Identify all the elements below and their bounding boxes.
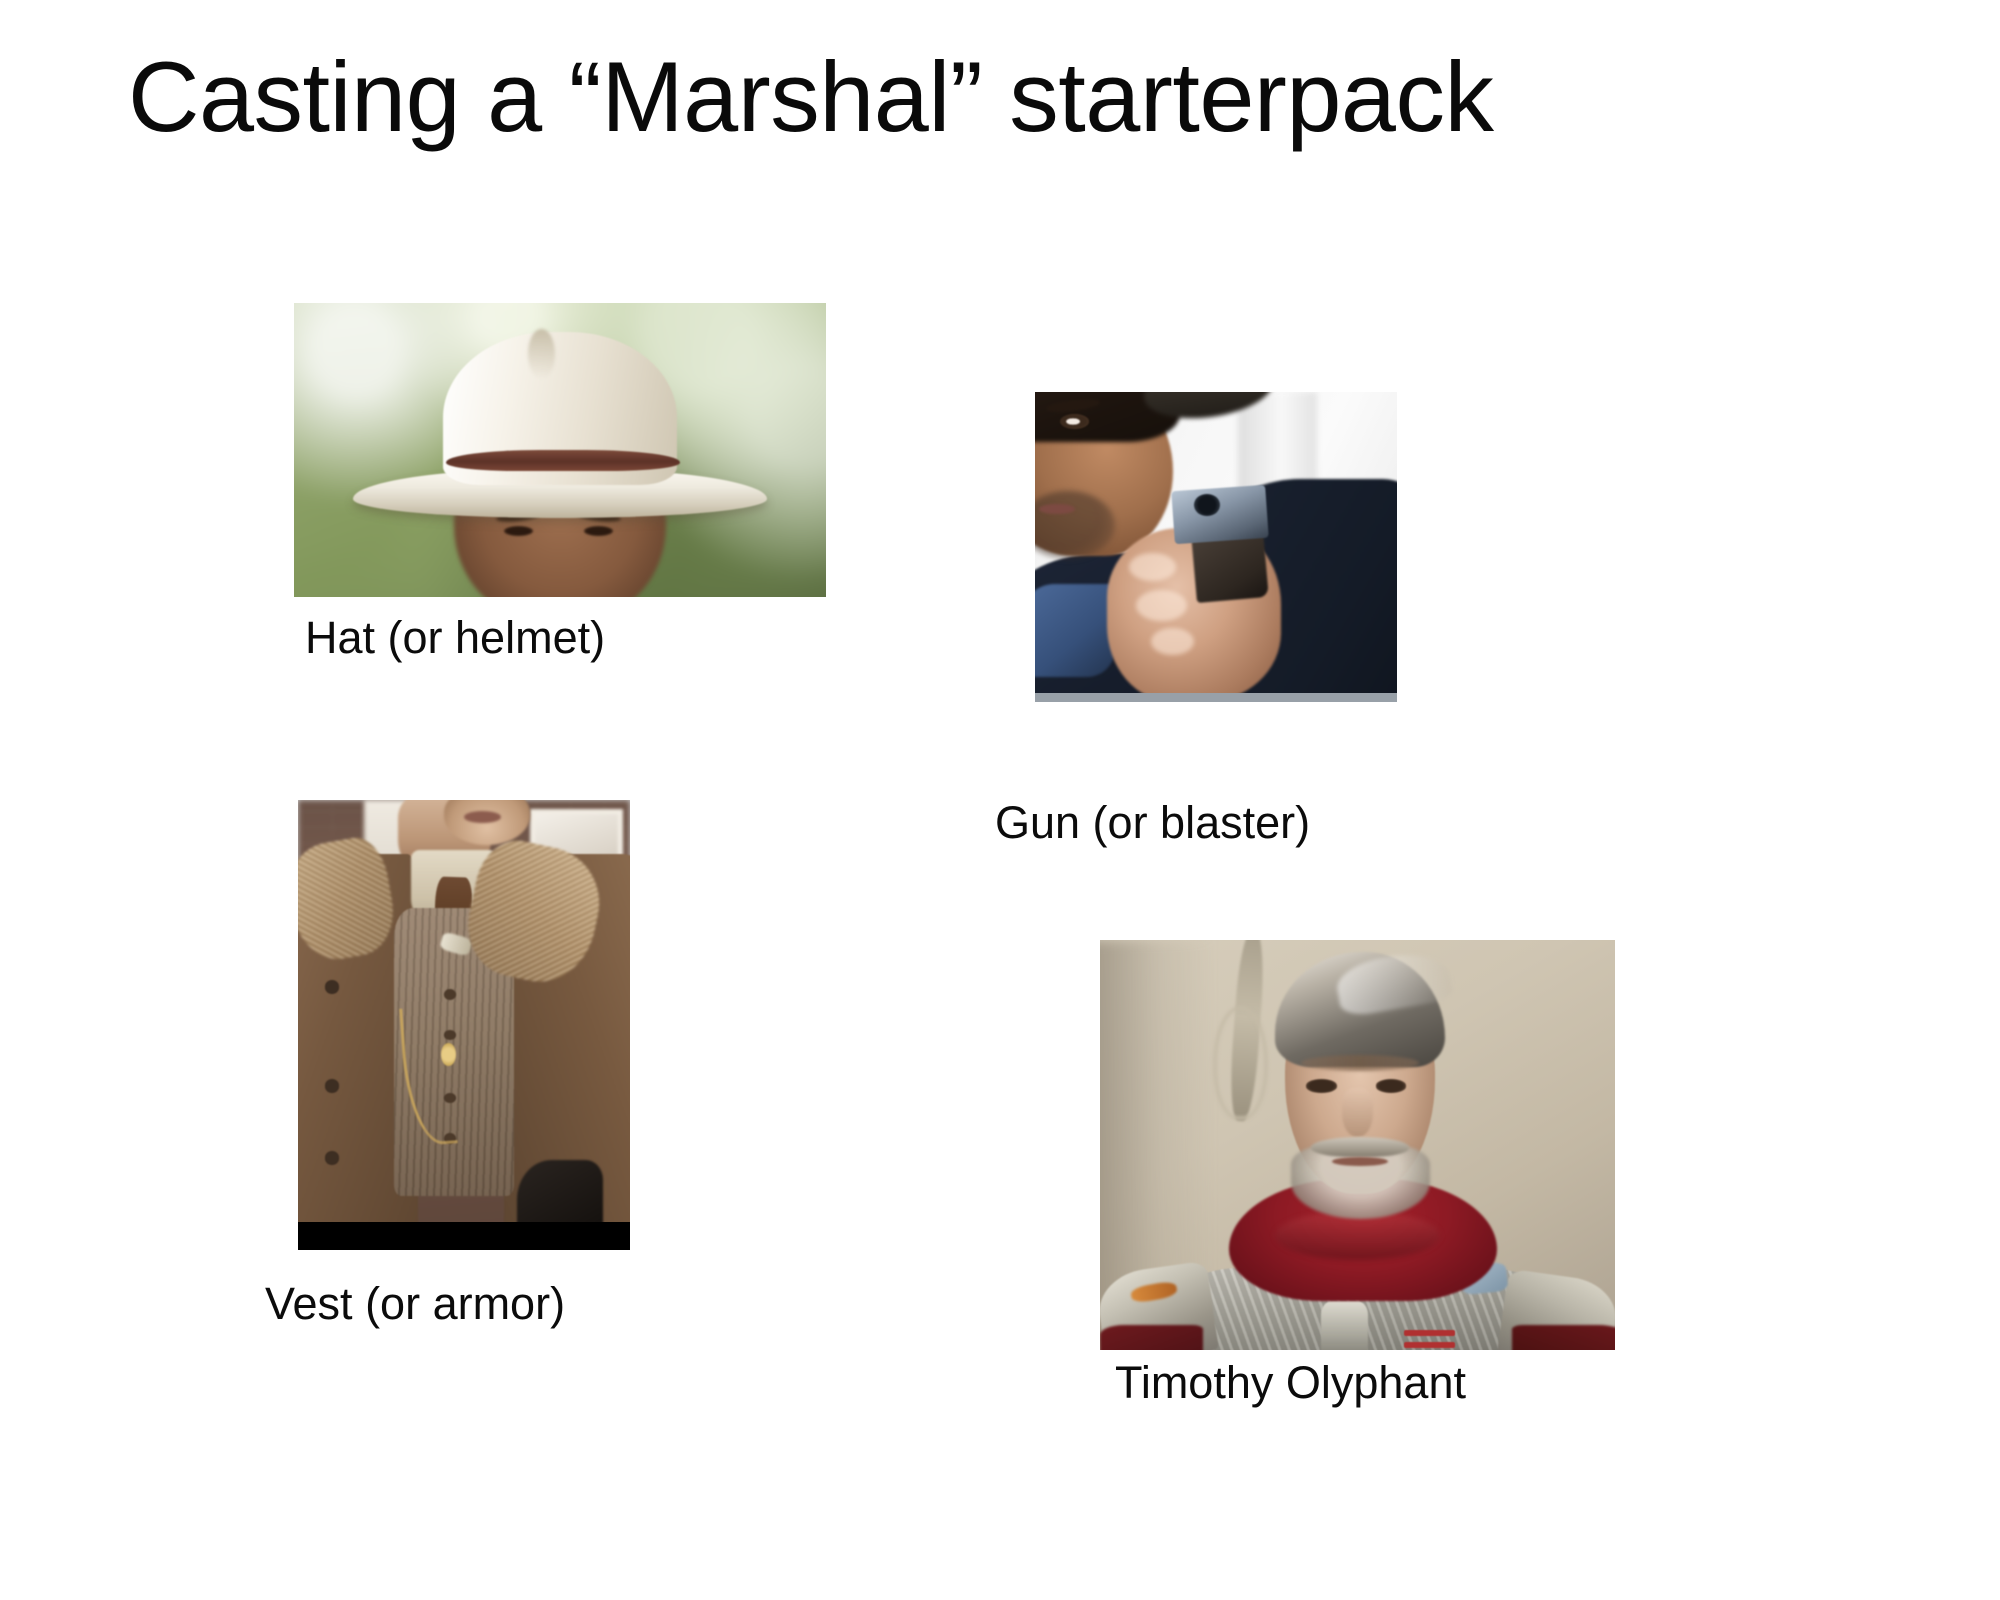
photo-man-aiming-pistol <box>1035 392 1397 702</box>
caption-vest: Vest (or armor) <box>265 1279 565 1329</box>
shirt-collar <box>1035 584 1115 677</box>
image-bottom-edge <box>1035 693 1397 702</box>
red-armor-left <box>1100 1325 1203 1350</box>
lips <box>464 811 501 823</box>
armor-stripe <box>1404 1330 1456 1337</box>
caption-actor: Timothy Olyphant <box>1115 1358 1466 1408</box>
photo-timothy-olyphant-mandalorian-armor <box>1100 940 1615 1350</box>
waistcoat-button <box>444 989 456 1000</box>
pistol-slide <box>1171 485 1269 544</box>
red-armor-right <box>1512 1325 1615 1350</box>
knuckle-highlight <box>1129 553 1176 581</box>
photo-white-cowboy-hat <box>294 303 826 597</box>
brow-furrow <box>1301 1055 1419 1071</box>
coat-button <box>325 980 340 994</box>
eye-left <box>1306 1079 1337 1092</box>
hat-band <box>446 450 680 471</box>
watch-fob <box>441 1043 456 1066</box>
moustache <box>1311 1137 1409 1158</box>
hat-crease <box>528 329 555 379</box>
photo-brown-three-piece-vest <box>298 800 630 1250</box>
pistol-muzzle <box>1194 494 1219 516</box>
rope-loop <box>1213 1006 1267 1121</box>
coat-button <box>325 1151 340 1165</box>
black-letterbox-bar <box>298 1222 630 1250</box>
armor-stripe <box>1404 1342 1456 1349</box>
chest-center-plate <box>1321 1301 1367 1350</box>
caption-hat: Hat (or helmet) <box>305 613 605 663</box>
eye-right <box>1376 1079 1407 1092</box>
caption-gun: Gun (or blaster) <box>995 798 1310 848</box>
coat-button <box>325 1079 340 1093</box>
nose <box>1342 1088 1373 1137</box>
page-title: Casting a “Marshal” starterpack <box>128 44 1493 151</box>
